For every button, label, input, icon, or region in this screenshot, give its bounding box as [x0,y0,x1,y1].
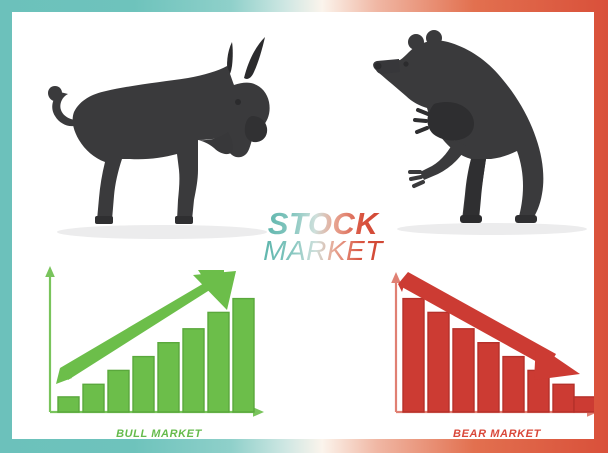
bull-bar-8 [233,299,254,412]
bear-bar-3 [453,329,474,412]
bull-bar-3 [108,370,129,412]
bull-market-chart: BULL MARKET [28,262,268,439]
bear-bar-7 [553,384,574,412]
bull-bar-2 [83,384,104,412]
bull-bar-6 [183,329,204,412]
bear-bar-1 [403,299,424,412]
bull-chart-svg [28,262,268,424]
bull-silhouette [22,20,292,240]
bear-bar-8 [574,397,594,412]
bull-bar-4 [133,357,154,412]
bull-bar-1 [58,397,79,412]
poster-canvas: STOCK MARKET [12,12,594,439]
bear-market-caption: BEAR MARKET [384,428,594,439]
stock-market-wordmark: STOCK MARKET [248,208,398,265]
wordmark-line-market: MARKET [248,237,398,265]
bear-bar-4 [478,343,499,412]
poster-frame: STOCK MARKET [0,0,608,453]
bear-y-axis-arrowhead [391,272,401,283]
bear-chart-bars [403,299,594,412]
bear-bar-2 [428,312,449,412]
bear-silhouette [362,22,594,237]
bull-bar-7 [208,312,229,412]
bull-y-axis-arrowhead [45,266,55,277]
bear-chart-svg [384,262,594,424]
bull-market-caption: BULL MARKET [28,428,268,439]
bear-market-chart: BEAR MARKET [384,262,594,439]
bear-bar-5 [503,357,524,412]
bull-bar-5 [158,343,179,412]
